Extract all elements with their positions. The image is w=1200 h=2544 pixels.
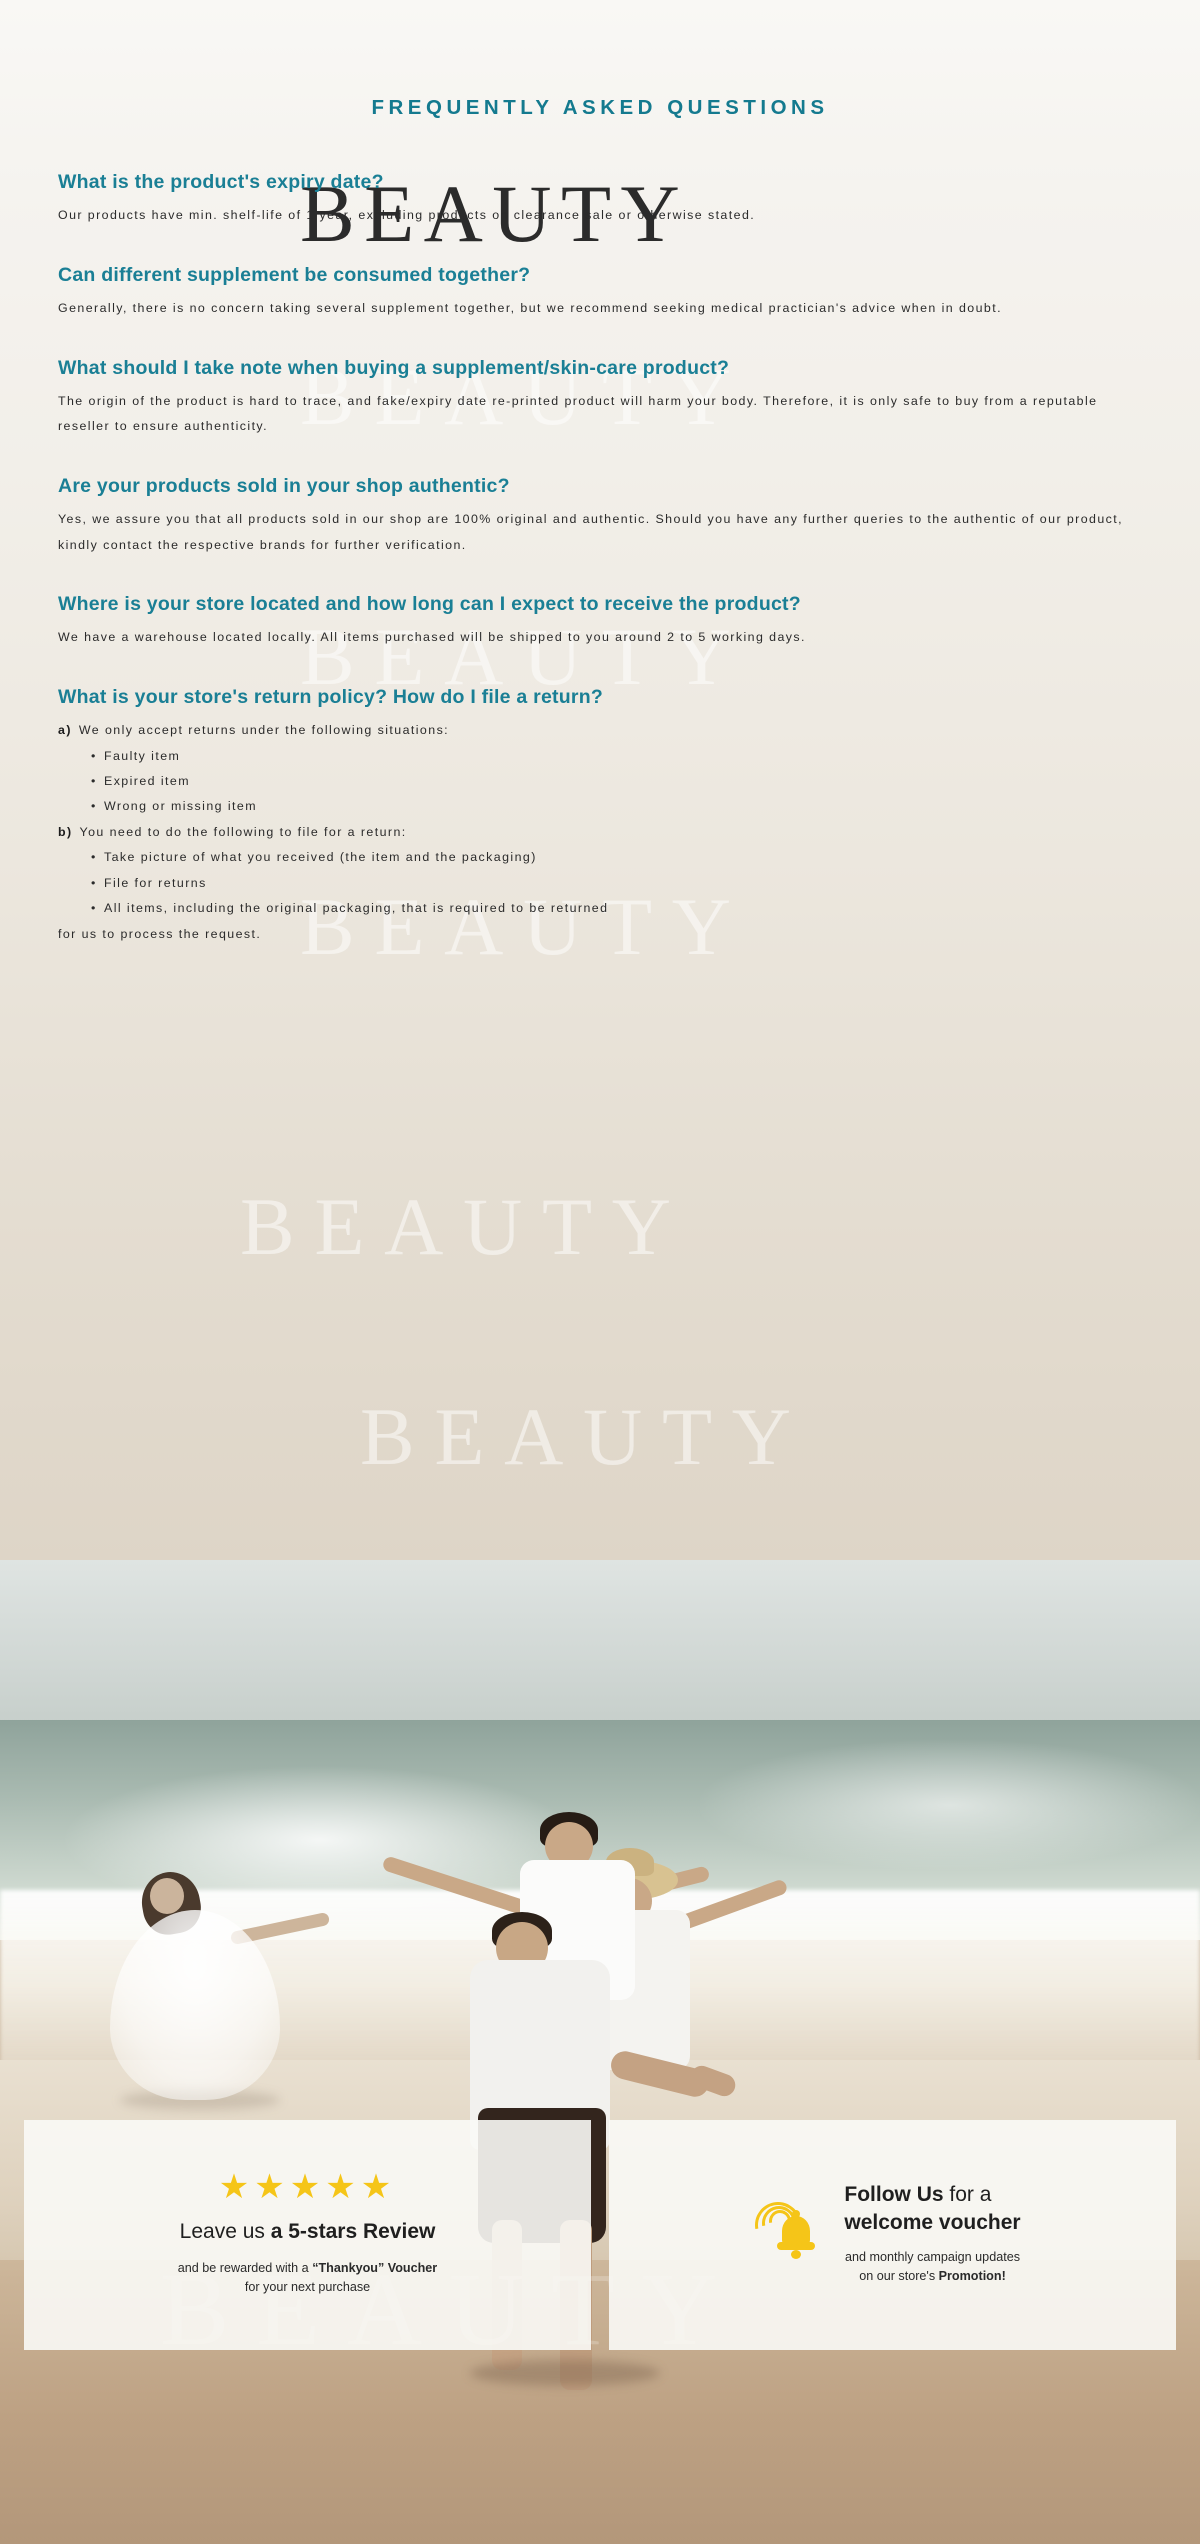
review-sub-plain: and be rewarded with a [178, 2261, 312, 2275]
follow-sub-line1: and monthly campaign updates [845, 2250, 1020, 2264]
faq-answer: a) We only accept returns under the foll… [58, 718, 1142, 947]
photo-sun-glint [700, 1740, 1200, 1870]
faq-question: What is your store's return policy? How … [58, 685, 1142, 709]
faq-item: Where is your store located and how long… [58, 558, 1142, 651]
follow-subtext: and monthly campaign updates on our stor… [844, 2248, 1020, 2287]
follow-sub-line2-bold: Promotion! [939, 2269, 1006, 2283]
bell-icon [764, 2208, 828, 2260]
faq-item: Are your products sold in your shop auth… [58, 440, 1142, 558]
follow-headline-bold2: welcome voucher [844, 2211, 1020, 2234]
list-item: All items, including the original packag… [91, 896, 1142, 921]
section-a-bullets: Faulty item Expired item Wrong or missin… [58, 744, 1142, 820]
faq-answer: Yes, we assure you that all products sol… [58, 507, 1142, 558]
faq-item: What should I take note when buying a su… [58, 322, 1142, 440]
section-b-text: You need to do the following to file for… [80, 820, 407, 845]
review-card[interactable]: ★★★★★ Leave us a 5-stars Review and be r… [24, 2120, 591, 2350]
follow-sub-line2-plain: on our store's [859, 2269, 938, 2283]
bell-lip [777, 2242, 815, 2250]
faq-question: What is the product's expiry date? [58, 170, 1142, 194]
follow-headline-bold1: Follow Us [844, 2183, 943, 2206]
section-a-label: a) [58, 718, 72, 743]
list-item: Expired item [91, 769, 1142, 794]
list-item: Take picture of what you received (the i… [91, 845, 1142, 870]
beach-family-photo: BEAUTY [0, 1560, 1200, 2544]
photo-shadow [470, 2360, 660, 2386]
review-headline-bold: a 5-stars Review [271, 2220, 436, 2243]
faq-section: BEAUTY BEAUTY BEAUTY BEAUTY BEAUTY BEAUT… [0, 0, 1200, 1560]
faq-heading: FREQUENTLY ASKED QUESTIONS [58, 0, 1142, 120]
section-b-bullets: Take picture of what you received (the i… [58, 845, 1142, 921]
faq-item: Can different supplement be consumed tog… [58, 229, 1142, 322]
section-a-text: We only accept returns under the followi… [79, 718, 449, 743]
return-section-a: a) We only accept returns under the foll… [58, 718, 1142, 743]
review-sub-line2: for your next purchase [245, 2280, 370, 2294]
watermark-beauty: BEAUTY [360, 1390, 811, 1484]
bell-clapper [791, 2250, 801, 2259]
faq-question: What should I take note when buying a su… [58, 356, 1142, 380]
follow-card[interactable]: Follow Us for a welcome voucher and mont… [609, 2120, 1176, 2350]
review-headline: Leave us a 5-stars Review [180, 2218, 436, 2246]
list-item: Faulty item [91, 744, 1142, 769]
faq-answer: We have a warehouse located locally. All… [58, 625, 1142, 650]
promo-cards: ★★★★★ Leave us a 5-stars Review and be r… [0, 2120, 1200, 2350]
faq-answer: Our products have min. shelf-life of 1 y… [58, 203, 1142, 228]
return-policy-tail: for us to process the request. [58, 922, 1142, 947]
faq-item-return-policy: What is your store's return policy? How … [58, 651, 1142, 947]
five-stars-icon: ★★★★★ [219, 2170, 396, 2204]
follow-headline: Follow Us for a welcome voucher [844, 2181, 1020, 2238]
review-sub-bold: “Thankyou” Voucher [312, 2261, 437, 2275]
faq-list: What is the product's expiry date? Our p… [58, 120, 1142, 947]
faq-question: Can different supplement be consumed tog… [58, 263, 1142, 287]
section-b-label: b) [58, 820, 73, 845]
faq-question: Are your products sold in your shop auth… [58, 474, 1142, 498]
follow-headline-plain: for a [944, 2183, 992, 2206]
faq-question: Where is your store located and how long… [58, 592, 1142, 616]
list-item: Wrong or missing item [91, 794, 1142, 819]
return-section-b: b) You need to do the following to file … [58, 820, 1142, 845]
photo-girl-head [150, 1878, 184, 1914]
review-headline-plain: Leave us [180, 2220, 271, 2243]
faq-item: What is the product's expiry date? Our p… [58, 120, 1142, 229]
review-subtext: and be rewarded with a “Thankyou” Vouche… [178, 2259, 437, 2298]
faq-answer: The origin of the product is hard to tra… [58, 389, 1142, 440]
watermark-beauty: BEAUTY [240, 1180, 691, 1274]
page-root: BEAUTY BEAUTY BEAUTY BEAUTY BEAUTY BEAUT… [0, 0, 1200, 2544]
faq-answer: Generally, there is no concern taking se… [58, 296, 1142, 321]
list-item: File for returns [91, 871, 1142, 896]
